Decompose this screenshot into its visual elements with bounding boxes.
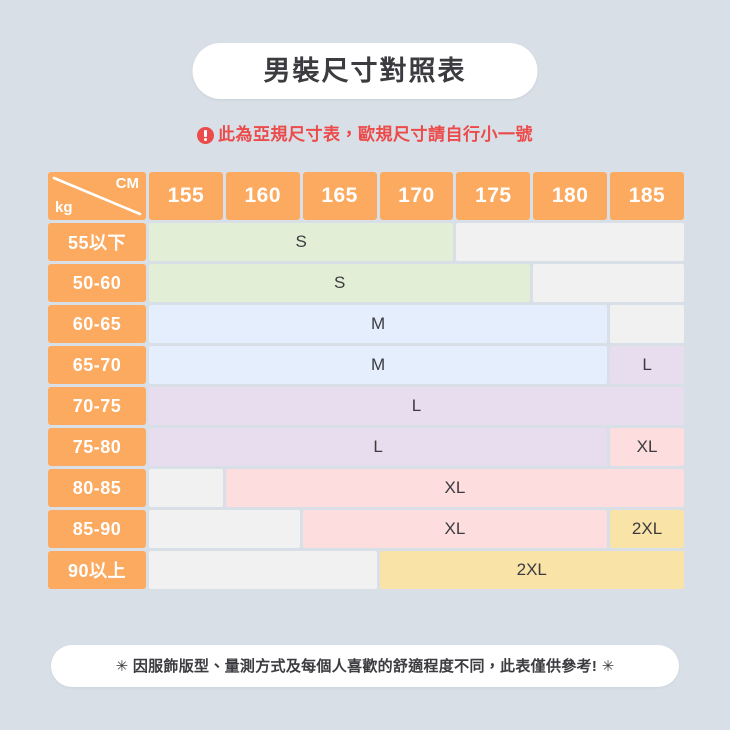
row-cells: LXL	[149, 428, 684, 466]
size-chart-page: 男裝尺寸對照表 此為亞規尺寸表，歐規尺寸請自行小一號 CMkg155160165…	[0, 0, 730, 730]
warning-text: 此為亞規尺寸表，歐規尺寸請自行小一號	[218, 126, 533, 143]
row-header-60-65: 60-65	[48, 305, 146, 343]
table-row: 55以下S	[48, 223, 684, 261]
row-cells: ML	[149, 346, 684, 384]
row-cells: S	[149, 223, 684, 261]
size-cell-XL: XL	[303, 510, 607, 548]
row-cells: L	[149, 387, 684, 425]
row-cells: XL2XL	[149, 510, 684, 548]
row-label-wrap: 90以上	[48, 551, 146, 589]
row-header-75-80: 75-80	[48, 428, 146, 466]
size-cell-empty	[533, 264, 684, 302]
table-row: 80-85XL	[48, 469, 684, 507]
corner-cell: CMkg	[48, 172, 146, 220]
column-header-175: 175	[456, 172, 530, 220]
row-header-70-75: 70-75	[48, 387, 146, 425]
size-cell-M: M	[149, 305, 607, 343]
row-label-wrap: 75-80	[48, 428, 146, 466]
column-header-180: 180	[533, 172, 607, 220]
size-cell-2XL: 2XL	[380, 551, 684, 589]
size-cell-empty	[149, 469, 223, 507]
table-header-row: CMkg155160165170175180185	[48, 172, 684, 220]
title-pill: 男裝尺寸對照表	[193, 43, 538, 99]
size-cell-empty	[456, 223, 684, 261]
size-cell-M: M	[149, 346, 607, 384]
footer-pill: ✳ 因服飾版型、量測方式及每個人喜歡的舒適程度不同，此表僅供參考! ✳	[51, 645, 679, 687]
row-header-65-70: 65-70	[48, 346, 146, 384]
corner-label-kg: kg	[55, 200, 73, 215]
column-header-160: 160	[226, 172, 300, 220]
size-cell-empty	[149, 510, 300, 548]
warning-banner: 此為亞規尺寸表，歐規尺寸請自行小一號	[0, 126, 730, 143]
size-cell-XL: XL	[226, 469, 684, 507]
row-header-55以下: 55以下	[48, 223, 146, 261]
table-row: 50-60S	[48, 264, 684, 302]
row-cells: 2XL	[149, 551, 684, 589]
corner-label-cm: CM	[116, 176, 139, 191]
table-row: 85-90XL2XL	[48, 510, 684, 548]
column-header-155: 155	[149, 172, 223, 220]
size-cell-XL: XL	[610, 428, 684, 466]
row-header-80-85: 80-85	[48, 469, 146, 507]
table-row: 65-70ML	[48, 346, 684, 384]
row-label-wrap: 85-90	[48, 510, 146, 548]
corner-cell-wrap: CMkg	[48, 172, 146, 220]
column-header-cells: 155160165170175180185	[149, 172, 684, 220]
size-cell-L: L	[149, 428, 607, 466]
row-header-90以上: 90以上	[48, 551, 146, 589]
size-cell-S: S	[149, 223, 453, 261]
size-cell-empty	[149, 551, 377, 589]
size-cell-2XL: 2XL	[610, 510, 684, 548]
size-comparison-table: CMkg15516016517017518018555以下S50-60S60-6…	[48, 172, 684, 589]
row-label-wrap: 50-60	[48, 264, 146, 302]
column-header-170: 170	[380, 172, 454, 220]
exclamation-circle-icon	[197, 127, 214, 144]
page-title: 男裝尺寸對照表	[264, 58, 467, 85]
size-cell-S: S	[149, 264, 530, 302]
size-cell-L: L	[149, 387, 684, 425]
table-row: 90以上2XL	[48, 551, 684, 589]
row-header-50-60: 50-60	[48, 264, 146, 302]
row-label-wrap: 60-65	[48, 305, 146, 343]
table-row: 70-75L	[48, 387, 684, 425]
row-label-wrap: 65-70	[48, 346, 146, 384]
table-row: 60-65M	[48, 305, 684, 343]
row-label-wrap: 55以下	[48, 223, 146, 261]
column-header-165: 165	[303, 172, 377, 220]
row-cells: XL	[149, 469, 684, 507]
table-row: 75-80LXL	[48, 428, 684, 466]
row-cells: S	[149, 264, 684, 302]
row-header-85-90: 85-90	[48, 510, 146, 548]
row-label-wrap: 80-85	[48, 469, 146, 507]
size-cell-empty	[610, 305, 684, 343]
footer-note: ✳ 因服飾版型、量測方式及每個人喜歡的舒適程度不同，此表僅供參考! ✳	[116, 659, 615, 674]
row-cells: M	[149, 305, 684, 343]
column-header-185: 185	[610, 172, 684, 220]
row-label-wrap: 70-75	[48, 387, 146, 425]
size-cell-L: L	[610, 346, 684, 384]
